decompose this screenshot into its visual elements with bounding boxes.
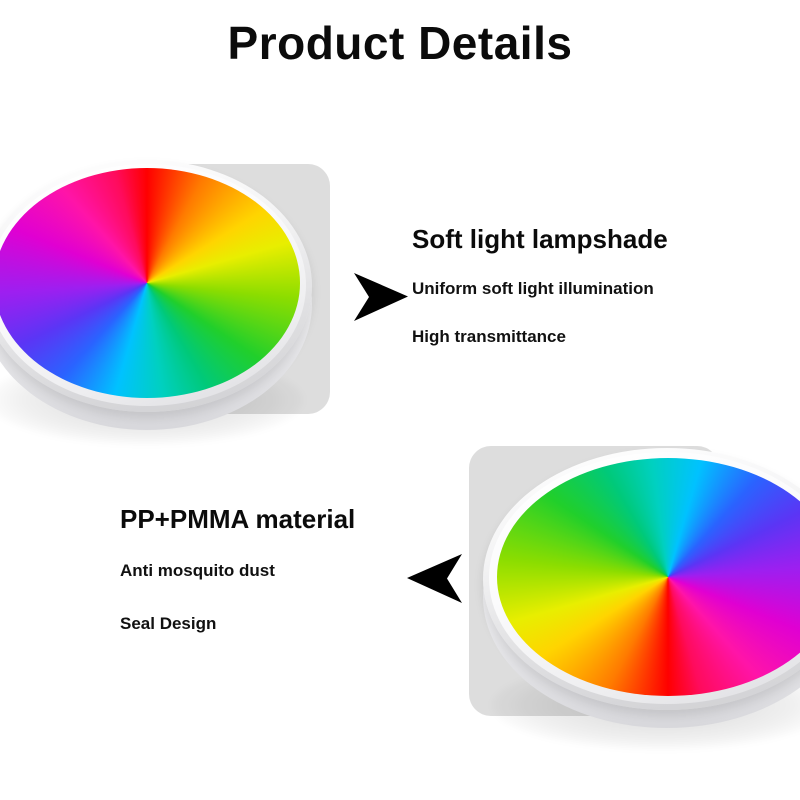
arrow-right-icon bbox=[352, 270, 410, 324]
callout-heading: Soft light lampshade bbox=[412, 224, 742, 255]
arrow-left-icon bbox=[404, 552, 464, 606]
rgb-color-wheel-gradient bbox=[0, 168, 300, 398]
product-details-page: Product Details Soft light lampshade Uni… bbox=[0, 0, 800, 800]
callout-soft-light-lampshade: Soft light lampshade Uniform soft light … bbox=[412, 224, 742, 255]
callout-line-1: Uniform soft light illumination bbox=[412, 279, 654, 299]
lamp-diffuser-face bbox=[0, 168, 300, 398]
callout-line-2: Seal Design bbox=[120, 614, 216, 634]
rgb-color-wheel-gradient bbox=[497, 458, 800, 696]
product-image-ceiling-lamp-top-left bbox=[0, 140, 350, 440]
callout-line-1: Anti mosquito dust bbox=[120, 561, 275, 581]
lamp-diffuser-face bbox=[497, 458, 800, 696]
callout-pp-pmma-material: PP+PMMA material Anti mosquito dust Seal… bbox=[120, 504, 420, 535]
page-title: Product Details bbox=[0, 16, 800, 70]
callout-line-2: High transmittance bbox=[412, 327, 566, 347]
product-image-ceiling-lamp-bottom-right bbox=[455, 430, 800, 740]
callout-heading: PP+PMMA material bbox=[120, 504, 420, 535]
